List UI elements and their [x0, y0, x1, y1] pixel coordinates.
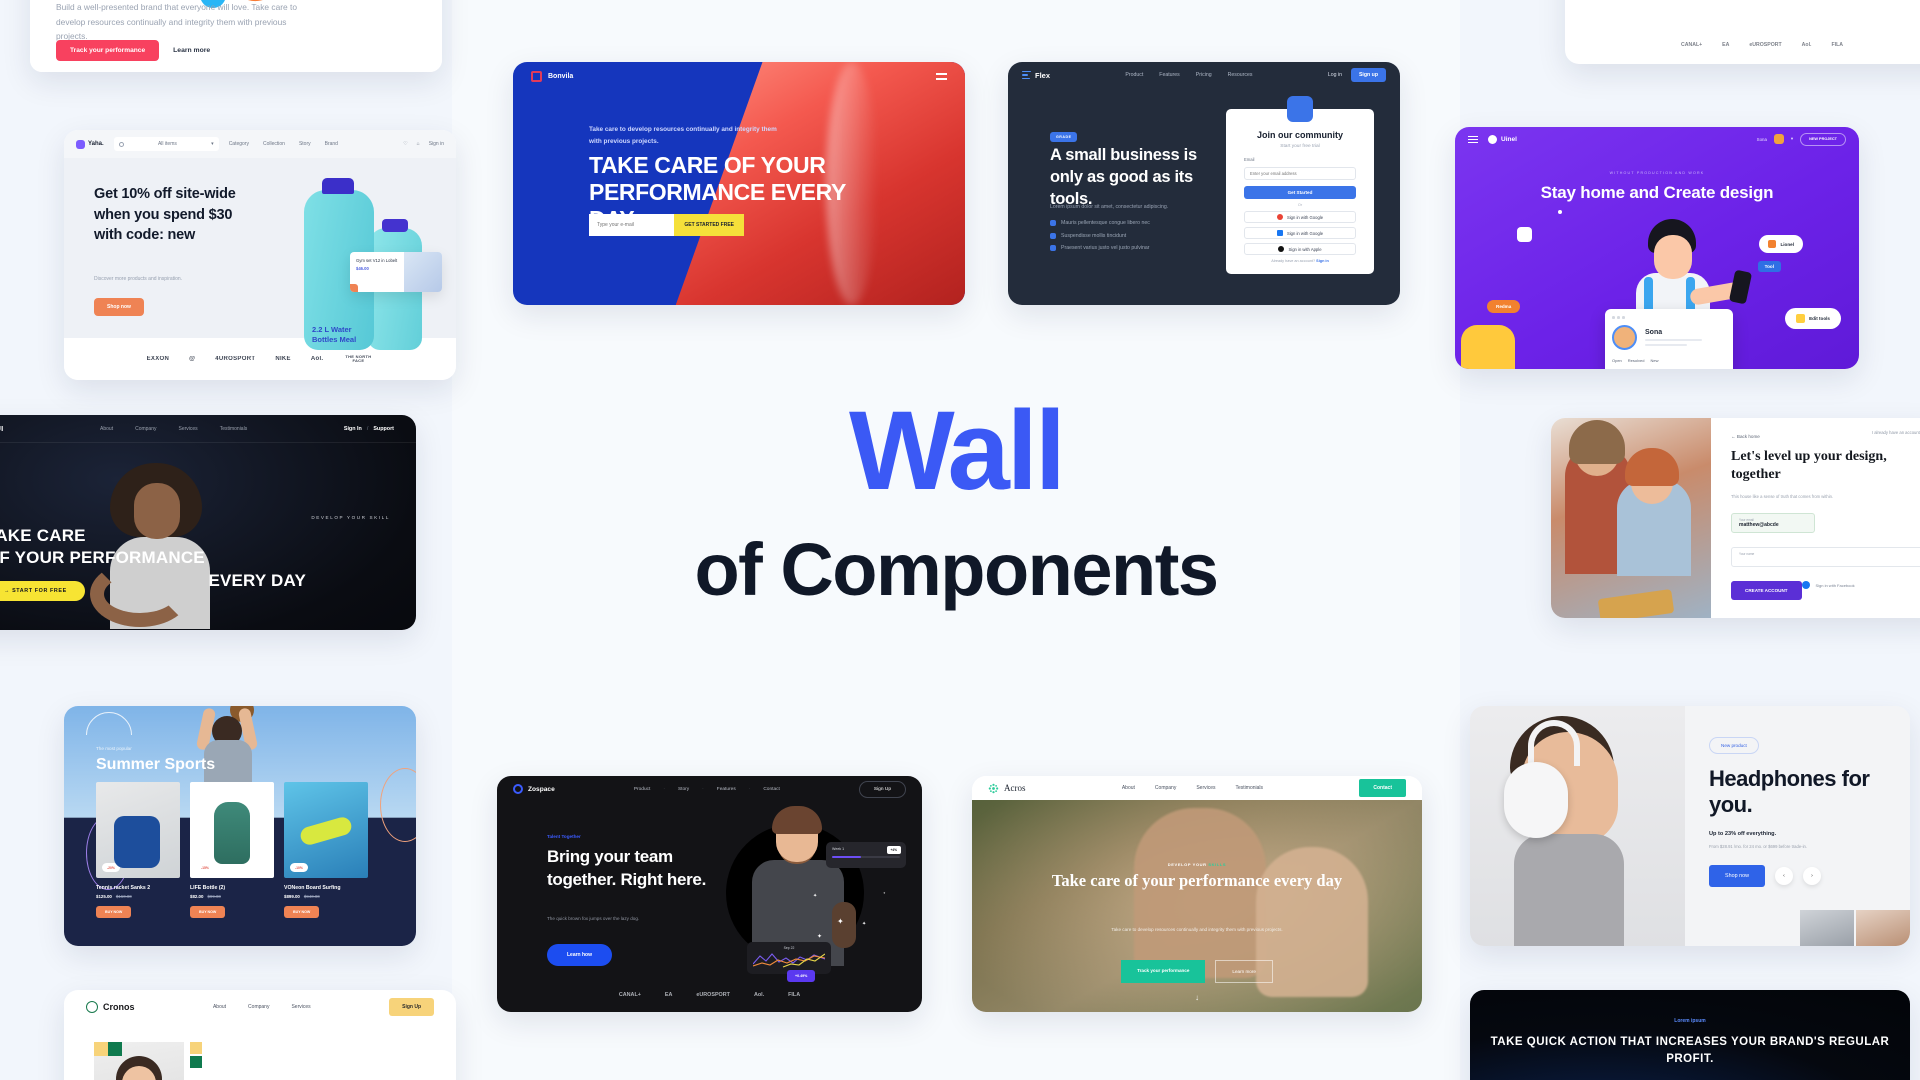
product-title: Tennis racket Sanks 2 [96, 885, 180, 891]
card-acros-landing[interactable]: Acros About Company Services Testimonial… [972, 776, 1422, 1012]
card-levelup-signup[interactable]: I already have an account Sign in ← Back… [1551, 418, 1920, 618]
product-old-price: $160.00 [116, 894, 132, 899]
product-title: LIFE Bottle (2) [190, 885, 274, 891]
search-icon [119, 142, 124, 147]
login-link[interactable]: Log in [1328, 72, 1342, 78]
new-project-button[interactable]: NEW PROJECT [1800, 133, 1846, 146]
brand-logo: FILA [1831, 42, 1843, 48]
brand-logo: EA [665, 992, 673, 998]
chart-chip: +0.49% [787, 970, 815, 982]
signin-link[interactable]: Sign in [1316, 259, 1329, 263]
hamburger-menu-icon[interactable] [936, 73, 947, 80]
name-label: Your name [1739, 552, 1920, 556]
boldui-kicker: DEVELOP YOUR SKILL [311, 515, 390, 520]
signin-apple-label: Sign in with Apple [1288, 247, 1321, 252]
panel-title: Join our community [1244, 130, 1356, 140]
yaha-brand: Yaha. [88, 141, 104, 147]
logo-icon [76, 140, 85, 149]
logo-icon [1488, 135, 1497, 144]
brand-logo: CANAL+ [619, 992, 641, 998]
product-title: Gym set V12 in Lobelt [356, 258, 398, 264]
nav-item-product[interactable]: Product [1125, 72, 1143, 78]
card-brand-promo[interactable]: Build a well-presented brand that everyo… [30, 0, 442, 72]
scroll-down-icon[interactable]: ↓ [972, 993, 1422, 1002]
separator: / [367, 426, 369, 432]
progress-bar [832, 856, 900, 858]
product-price: $899.00$940.00 [284, 894, 368, 899]
nav-item-story[interactable]: Story [299, 141, 311, 147]
uinel-brand: Uinel [1501, 136, 1517, 143]
flex-navbar[interactable]: Flex Product Features Pricing Resources … [1008, 62, 1400, 88]
create-account-button[interactable]: CREATE ACCOUNT [1731, 581, 1802, 600]
support-link[interactable]: Support [373, 426, 394, 432]
profile-widget[interactable]: Sona Open Resolved New [1605, 309, 1733, 369]
signin-link[interactable]: Sign In [344, 426, 362, 432]
flex-brand: Flex [1035, 71, 1050, 80]
discount-badge: -20% [102, 863, 120, 872]
email-field[interactable]: Your email matthew@abcde [1731, 513, 1815, 533]
signin-google-label: Sign in with Google [1287, 215, 1323, 220]
tools-icon [1796, 314, 1805, 323]
product-old-price: $99.00 [207, 894, 220, 899]
carousel-prev-button[interactable]: ‹ [1775, 867, 1793, 885]
decorative-dot [1558, 210, 1562, 214]
decorative-square [94, 1042, 108, 1056]
product-card[interactable]: -10% VONeon Board Surfing $899.00$940.00… [284, 782, 368, 918]
email-label: Email [1244, 157, 1356, 162]
bonvila-brand: Bonvila [548, 73, 573, 80]
acros-logo[interactable]: Acros [988, 783, 1026, 794]
signin-google-button[interactable]: Sign in with Google [1244, 211, 1356, 223]
nav-item-features[interactable]: Features [717, 787, 736, 792]
uinel-kicker: WITHOUT PRODUCTION AND WORK [1455, 171, 1859, 175]
footer-text: Already have an account? [1271, 259, 1316, 263]
action-resolved[interactable]: Resolved [1628, 358, 1645, 363]
name-field[interactable]: Your name [1731, 547, 1920, 567]
sparkle-icon: ✦ [837, 918, 844, 926]
headphones-content: New product Headphones for you. Up to 23… [1685, 706, 1910, 946]
nav-item-services[interactable]: Services [1196, 785, 1215, 791]
thumbnail[interactable] [1800, 910, 1854, 946]
nav-item-pricing[interactable]: Pricing [1196, 72, 1212, 78]
card-video-promo[interactable]: Play video Learn more CANAL+ EA eUROSPOR… [1565, 0, 1920, 64]
levelup-headline: Let's level up your design, together [1731, 448, 1891, 484]
signup-button[interactable]: Sign Up [389, 998, 434, 1016]
zospace-navbar[interactable]: Zospace Product· Story· Features· Contac… [497, 776, 922, 802]
logo-icon [1022, 71, 1031, 80]
google-icon [1277, 214, 1283, 220]
tag-edit-tools[interactable]: Edit tools [1785, 308, 1841, 329]
acros-brand: Acros [1004, 783, 1026, 793]
brand-logo: eUROSPORT [696, 992, 730, 998]
flex-nav-actions[interactable]: Log in Sign up [1328, 68, 1386, 82]
promo-paragraph: Build a well-presented brand that everyo… [56, 0, 302, 44]
nav-item-testimonials[interactable]: Testimonials [220, 426, 248, 432]
zospace-logo[interactable]: Zospace [513, 784, 555, 794]
summer-kicker: The most popular [96, 746, 132, 751]
start-for-free-button[interactable]: → START FOR FREE [0, 581, 85, 601]
quick-kicker: Lorem ipsum [1470, 1018, 1910, 1024]
action-open[interactable]: Open [1612, 358, 1622, 363]
nav-item-story[interactable]: Story [678, 787, 689, 792]
signin-facebook-label: Sign in with Facebook [1815, 583, 1854, 588]
product-title: VONeon Board Surfing [284, 885, 368, 891]
signin-apple-button[interactable]: Sign in with Apple [1244, 243, 1356, 255]
sparkle-icon: ✦ [813, 894, 817, 899]
nav-item-about[interactable]: About [1122, 785, 1135, 791]
flex-nav-links[interactable]: Product Features Pricing Resources [1125, 72, 1252, 78]
carousel-next-button[interactable]: › [1803, 867, 1821, 885]
yaha-headline: Get 10% off site-wide when you spend $30… [94, 184, 250, 246]
product-grid: -20% Tennis racket Sanks 2 $125.00$160.0… [96, 782, 368, 918]
buy-now-button[interactable]: BUY NOW [96, 906, 131, 918]
zospace-kicker: Talent Together [547, 834, 581, 839]
check-icon [1050, 220, 1056, 226]
learn-how-button[interactable]: Learn how [547, 944, 612, 966]
shop-now-button[interactable]: Shop now [1709, 865, 1765, 887]
acros-button-row: Track your performance Learn more [972, 960, 1422, 983]
yaha-navbar[interactable]: Yaha. All items ▾ Category Collection St… [64, 130, 456, 158]
sparkle-icon: ✦ [862, 922, 866, 927]
tag-lionel-label: Lionel [1780, 242, 1794, 247]
boldui-nav-actions[interactable]: Sign In / Support [344, 426, 394, 432]
get-started-button[interactable]: GET STARTED FREE [674, 214, 744, 236]
card-cronos-landing[interactable]: Cronos About Company Services Sign Up Ta… [64, 990, 456, 1080]
boldui-nav-links[interactable]: About Company Services Testimonials [100, 426, 247, 432]
user-icon [1768, 240, 1776, 248]
decorative-arc [86, 712, 132, 758]
wall-of-components-page: Build a well-presented brand that everyo… [0, 0, 1920, 1080]
chevron-down-icon[interactable]: ▾ [211, 141, 214, 147]
filter-label: All items [158, 141, 177, 147]
email-value: matthew@abcde [1739, 522, 1807, 528]
yaha-hero: Get 10% off site-wide when you spend $30… [64, 158, 456, 338]
brand-logo: eUROSPORT [1749, 42, 1781, 48]
product-thumbnail [404, 252, 442, 292]
uinel-navbar[interactable]: Uinel Sona ▾ NEW PROJECT [1455, 127, 1859, 151]
search-input[interactable]: All items ▾ [114, 137, 219, 151]
list-item: Mauris pellentesque congue libero nec [1050, 220, 1150, 226]
signup-button[interactable]: Sign up [1351, 68, 1386, 82]
brand-logo: CANAL+ [1681, 42, 1702, 48]
card-summer-sports[interactable]: The most popular Summer Sports -20% Tenn… [64, 706, 416, 946]
list-item: Praesent varius justo vel justo pulvinar [1050, 245, 1150, 251]
brand-logo: Aol. [1802, 42, 1812, 48]
tag-tool[interactable]: Tool [1758, 261, 1781, 272]
learn-more-button[interactable]: Learn more [1215, 960, 1273, 983]
signup-button[interactable]: Sign Up [859, 781, 906, 798]
headphones-headline: Headphones for you. [1709, 766, 1886, 819]
facebook-icon [1277, 230, 1283, 236]
sparkle-icon: ✦ [883, 892, 886, 895]
headphones-finance-note: From $28.91 /mo. for 24 mo. or $699 befo… [1709, 844, 1886, 849]
bonvila-logo[interactable]: Bonvila [531, 71, 573, 82]
account-note: I already have an account Sign in [1872, 430, 1920, 435]
heart-icon[interactable]: ♡ [403, 141, 407, 147]
nav-item-company[interactable]: Company [248, 1004, 269, 1010]
acros-hero-photo: DEVELOP YOUR SKILLS Take care of your pe… [972, 800, 1422, 1012]
product-price: $82.00$99.00 [190, 894, 274, 899]
summer-headline: Summer Sports [96, 756, 215, 774]
headphones-subtext: Up to 23% off everything. [1709, 831, 1886, 837]
discount-badge: -10% [290, 863, 308, 872]
list-item: Suspendisse mollis tincidunt [1050, 233, 1150, 239]
brand-logo: THE NORTH FACE [343, 355, 373, 364]
zospace-brand: Zospace [528, 786, 555, 793]
product-popover[interactable]: Gym set V12 in Lobelt $46.00 [350, 252, 442, 292]
cronos-logo[interactable]: Cronos [86, 1001, 135, 1013]
nav-item-category[interactable]: Category [229, 141, 249, 147]
bonvila-navbar[interactable]: Bonvila [513, 62, 965, 90]
kicker-part-1: DEVELOP YOUR [1168, 862, 1209, 867]
account-note-text: I already have an account [1872, 430, 1920, 435]
brand-logo: EA [1722, 42, 1729, 48]
acros-kicker: DEVELOP YOUR SKILLS [972, 862, 1422, 867]
promo-button-row: Track your performance Learn more [56, 40, 210, 61]
boldui-navbar[interactable]: BoldUI About Company Services Testimonia… [0, 415, 416, 443]
thumbnail[interactable] [1856, 910, 1910, 946]
nav-item-features[interactable]: Features [1159, 72, 1179, 78]
brand-logo: 4UROSPORT [215, 356, 255, 362]
hamburger-menu-icon[interactable] [1468, 136, 1478, 143]
decorative-square [190, 1056, 202, 1068]
buy-now-button[interactable]: BUY NOW [284, 906, 319, 918]
avatar[interactable] [1774, 134, 1784, 144]
email-signup-form[interactable]: GET STARTED FREE [589, 214, 744, 236]
card-bonvila-landing[interactable]: Bonvila Take care to develop resources c… [513, 62, 965, 305]
flex-lede: Lorem ipsum dolor sit amet, consectetur … [1050, 204, 1200, 210]
contact-button[interactable]: Contact [1359, 779, 1406, 797]
profile-name: Sona [1645, 329, 1726, 336]
email-field[interactable] [1244, 167, 1356, 180]
status-badge: GRADE [1050, 132, 1077, 142]
card-uinel-app[interactable]: Uinel Sona ▾ NEW PROJECT WITHOUT PRODUCT… [1455, 127, 1859, 369]
facebook-icon [1802, 581, 1810, 589]
bullet-text: Suspendisse mollis tincidunt [1061, 233, 1126, 239]
card-body: Build a well-presented brand that everyo… [30, 0, 442, 72]
product-card[interactable]: -15% LIFE Bottle (2) $82.00$99.00 BUY NO… [190, 782, 274, 918]
brand-logo: NIKE [275, 356, 291, 362]
thumbnail-strip[interactable] [1800, 910, 1910, 946]
bullet-text: Praesent varius justo vel justo pulvinar [1061, 245, 1150, 251]
card-zospace-landing[interactable]: Zospace Product· Story· Features· Contac… [497, 776, 922, 1012]
uinel-nav-actions[interactable]: Sona ▾ NEW PROJECT [1757, 133, 1846, 146]
nav-item-testimonials[interactable]: Testimonials [1236, 785, 1264, 791]
week-widget: Week 1 +4% [826, 842, 906, 868]
new-product-badge: New product [1709, 737, 1759, 754]
bonvila-paragraph: Take care to develop resources continual… [589, 124, 789, 148]
headline-line-1: TAKE CARE [0, 525, 306, 547]
apple-icon [1278, 246, 1284, 252]
check-icon [1050, 245, 1056, 251]
tag-edit-label: Edit tools [1809, 316, 1830, 321]
avatar [1612, 325, 1637, 350]
product-image: -15% [190, 782, 274, 878]
brand-logos: CANAL+ EA eUROSPORT Aol. FILA [1565, 42, 1920, 48]
track-performance-button[interactable]: Track your performance [1121, 960, 1205, 983]
uinel-headline: Stay home and Create design [1455, 181, 1859, 204]
check-icon [1050, 233, 1056, 239]
decorative-square [1517, 227, 1532, 242]
headphones-photo [1470, 706, 1685, 946]
panel-footer: Already have an account? Sign in [1244, 259, 1356, 263]
nav-item-product[interactable]: Product [634, 787, 651, 792]
brand-logo: FILA [788, 992, 800, 998]
levelup-lede: This house like a sense of truth that co… [1731, 494, 1901, 499]
acros-navbar[interactable]: Acros About Company Services Testimonial… [972, 776, 1422, 800]
learn-more-link[interactable]: Learn more [173, 47, 210, 54]
family-photo [1551, 418, 1711, 618]
chevron-down-icon[interactable]: ▾ [1791, 136, 1793, 142]
flower-icon [988, 783, 999, 794]
brand-logo: Aol. [754, 992, 764, 998]
zospace-brand-strip: CANAL+ EA eUROSPORT Aol. FILA [497, 992, 922, 998]
product-image: -10% [284, 782, 368, 878]
signin-link[interactable]: Sign in [429, 141, 444, 147]
card-headphones-promo[interactable]: New product Headphones for you. Up to 23… [1470, 706, 1910, 946]
card-yaha-ecommerce[interactable]: Yaha. All items ▾ Category Collection St… [64, 130, 456, 380]
nav-item-services[interactable]: Services [179, 426, 198, 432]
product-card[interactable]: -20% Tennis racket Sanks 2 $125.00$160.0… [96, 782, 180, 918]
cronos-navbar[interactable]: Cronos About Company Services Sign Up [64, 990, 456, 1024]
nav-item-company[interactable]: Company [135, 426, 156, 432]
add-to-cart-icon[interactable] [350, 284, 358, 292]
flex-mark-icon [1287, 96, 1313, 122]
email-input[interactable] [589, 214, 674, 236]
nav-item-brand[interactable]: Brand [325, 141, 338, 147]
boldui-logo[interactable]: BoldUI [0, 424, 3, 433]
nav-item-about[interactable]: About [100, 426, 113, 432]
back-home-label: Back home [1737, 434, 1760, 439]
sparkle-icon: ✦ [817, 934, 822, 940]
nav-item-collection[interactable]: Collection [263, 141, 285, 147]
brand-logo: @ [189, 356, 195, 362]
tag-lionel[interactable]: Lionel [1759, 235, 1803, 253]
tag-redma[interactable]: Redma [1487, 300, 1520, 313]
yaha-nav-links[interactable]: Category Collection Story Brand [229, 141, 338, 147]
brand-logo: Aol. [311, 356, 324, 362]
acros-lede: Take care to develop resources continual… [972, 926, 1422, 934]
logo-icon [531, 71, 542, 82]
cronos-nav-links[interactable]: About Company Services [213, 1004, 311, 1010]
quick-headline: TAKE QUICK ACTION THAT INCREASES YOUR BR… [1470, 1034, 1910, 1067]
zospace-nav-links[interactable]: Product· Story· Features· Contact [634, 787, 780, 792]
action-new[interactable]: New [1650, 358, 1658, 363]
acros-headline: Take care of your performance every day [972, 870, 1422, 891]
nav-item-contact[interactable]: Contact [763, 787, 780, 792]
brand-logo: EXXON [147, 356, 170, 362]
uinel-logo[interactable]: Uinel [1488, 135, 1517, 144]
kicker-part-2: SKILLS [1208, 862, 1226, 867]
get-started-button[interactable]: Get Started [1244, 186, 1356, 199]
nav-item-company[interactable]: Company [1155, 785, 1176, 791]
card-flex-landing[interactable]: Flex Product Features Pricing Resources … [1008, 62, 1400, 305]
decorative-arc [380, 768, 416, 842]
cronos-brand: Cronos [103, 1002, 135, 1012]
or-divider: Or [1244, 203, 1356, 207]
flex-headline: A small business is only as good as its … [1050, 144, 1210, 210]
signin-facebook-button[interactable]: Sign in with Google [1244, 227, 1356, 239]
headphones-actions: Shop now ‹ › [1709, 865, 1886, 887]
yaha-subtext: Discover more products and inspiration. [94, 276, 182, 282]
nav-item-about[interactable]: About [213, 1004, 226, 1010]
user-name: Sona [1757, 137, 1767, 142]
signin-facebook-button[interactable]: Sign in with Facebook [1802, 581, 1854, 589]
flex-logo[interactable]: Flex [1022, 71, 1050, 80]
flex-bullet-list: Mauris pellentesque congue libero nec Su… [1050, 220, 1150, 251]
bottle-label: 2.2 L Water Bottles Meal [312, 325, 374, 344]
week-percent: +4% [887, 846, 901, 854]
decorative-square [190, 1042, 202, 1054]
signup-panel[interactable]: Join our community Start your free trial… [1226, 109, 1374, 274]
buy-now-button[interactable]: BUY NOW [190, 906, 225, 918]
bullet-text: Mauris pellentesque congue libero nec [1061, 220, 1150, 226]
logo-icon [513, 784, 523, 794]
line-chart [753, 950, 825, 968]
acros-nav-links[interactable]: About Company Services Testimonials [1122, 785, 1263, 791]
zospace-headline: Bring your team together. Right here. [547, 846, 727, 891]
card-quick-action[interactable]: Lorem ipsum TAKE QUICK ACTION THAT INCRE… [1470, 990, 1910, 1080]
product-old-price: $940.00 [304, 894, 320, 899]
logo-icon [86, 1001, 98, 1013]
card-boldui-landing[interactable]: BoldUI About Company Services Testimonia… [0, 415, 416, 630]
shop-now-button[interactable]: Shop now [94, 298, 144, 316]
product-image: -20% [96, 782, 180, 878]
zospace-lede: The quick brown fox jumps over the lazy … [547, 916, 639, 921]
decorative-square [108, 1042, 122, 1056]
signin-facebook-label: Sign in with Google [1287, 231, 1323, 236]
panel-subtitle: Start your free trial [1244, 144, 1356, 149]
bag-icon[interactable]: ⌂ [417, 141, 420, 147]
yaha-nav-actions[interactable]: ♡ ⌂ Sign in [403, 141, 444, 147]
headline-line-2: OF YOUR PERFORMANCE [0, 547, 306, 569]
nav-item-services[interactable]: Services [291, 1004, 310, 1010]
track-performance-button[interactable]: Track your performance [56, 40, 159, 61]
yaha-logo[interactable]: Yaha. [76, 140, 104, 149]
signup-form[interactable]: I already have an account Sign in ← Back… [1711, 418, 1920, 618]
illustration-shape [1461, 325, 1515, 369]
discount-badge: -15% [196, 863, 214, 872]
product-price: $46.00 [356, 266, 398, 272]
product-price: $125.00$160.00 [96, 894, 180, 899]
nav-item-resources[interactable]: Resources [1228, 72, 1253, 78]
